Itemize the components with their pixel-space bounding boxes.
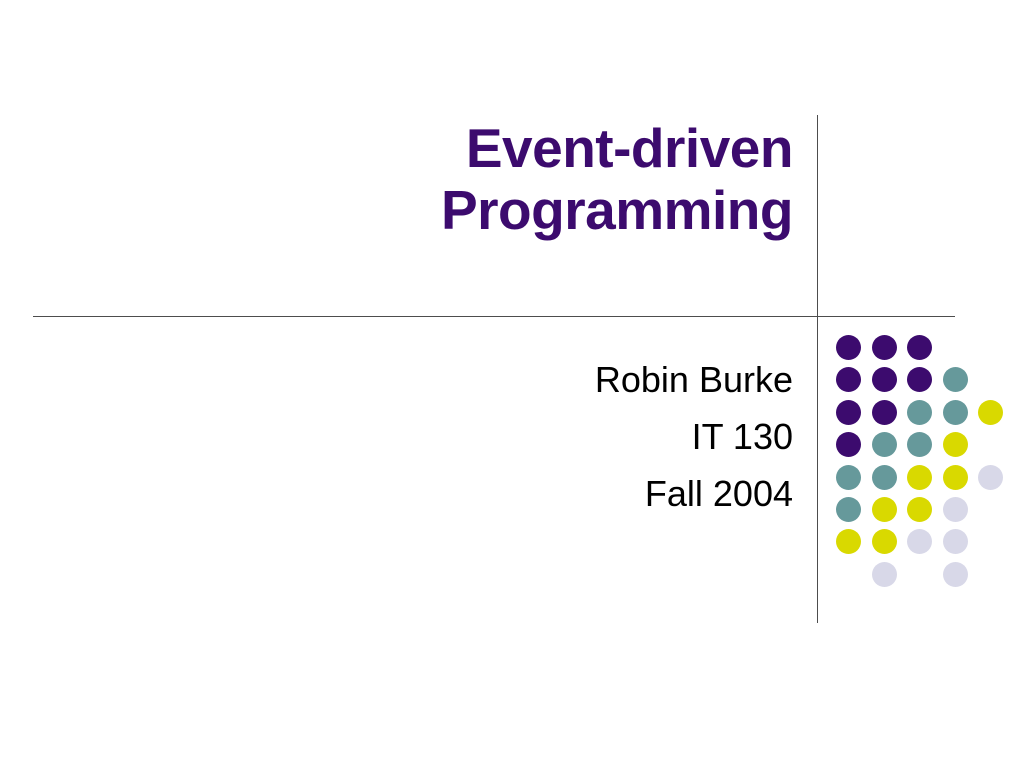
- slide-subtitle: Robin Burke IT 130 Fall 2004: [300, 352, 793, 523]
- dot-lavender: [872, 562, 897, 587]
- dot-placeholder: [836, 562, 861, 587]
- dot-placeholder: [978, 529, 1003, 554]
- dot-lavender: [943, 562, 968, 587]
- dot-placeholder: [907, 562, 932, 587]
- dot-yellow: [978, 400, 1003, 425]
- dot-yellow: [943, 432, 968, 457]
- dot-placeholder: [978, 432, 1003, 457]
- dot-purple: [836, 367, 861, 392]
- dot-purple: [907, 335, 932, 360]
- slide-canvas: Event-driven Programming Robin Burke IT …: [0, 0, 1024, 768]
- dot-teal: [907, 400, 932, 425]
- dot-grid-row: [836, 465, 1012, 497]
- dot-teal: [836, 465, 861, 490]
- dot-placeholder: [978, 562, 1003, 587]
- dot-purple: [836, 432, 861, 457]
- dot-lavender: [943, 529, 968, 554]
- dot-yellow: [943, 465, 968, 490]
- dot-grid-row: [836, 335, 1012, 367]
- dot-lavender: [907, 529, 932, 554]
- dot-yellow: [836, 529, 861, 554]
- dot-purple: [907, 367, 932, 392]
- dot-lavender: [943, 497, 968, 522]
- subtitle-line-course: IT 130: [300, 409, 793, 466]
- dot-placeholder: [978, 497, 1003, 522]
- subtitle-line-term: Fall 2004: [300, 466, 793, 523]
- dot-lavender: [978, 465, 1003, 490]
- vertical-divider-line: [817, 115, 818, 623]
- dot-purple: [836, 400, 861, 425]
- dot-yellow: [872, 497, 897, 522]
- dot-teal: [872, 465, 897, 490]
- dot-teal: [943, 367, 968, 392]
- slide-title: Event-driven Programming: [60, 118, 793, 241]
- dot-grid-row: [836, 562, 1012, 594]
- dot-placeholder: [943, 335, 968, 360]
- dot-teal: [907, 432, 932, 457]
- dot-grid-row: [836, 367, 1012, 399]
- dot-grid-row: [836, 432, 1012, 464]
- decorative-dot-grid: [836, 335, 1012, 590]
- dot-grid-row: [836, 400, 1012, 432]
- title-line-1: Event-driven: [60, 118, 793, 180]
- dot-grid-row: [836, 529, 1012, 561]
- subtitle-line-author: Robin Burke: [300, 352, 793, 409]
- dot-yellow: [907, 465, 932, 490]
- dot-teal: [836, 497, 861, 522]
- dot-placeholder: [978, 335, 1003, 360]
- dot-grid-row: [836, 497, 1012, 529]
- dot-placeholder: [978, 367, 1003, 392]
- dot-yellow: [872, 529, 897, 554]
- dot-yellow: [907, 497, 932, 522]
- dot-purple: [872, 400, 897, 425]
- dot-purple: [872, 335, 897, 360]
- title-line-2: Programming: [60, 180, 793, 242]
- dot-teal: [872, 432, 897, 457]
- dot-purple: [872, 367, 897, 392]
- dot-purple: [836, 335, 861, 360]
- dot-teal: [943, 400, 968, 425]
